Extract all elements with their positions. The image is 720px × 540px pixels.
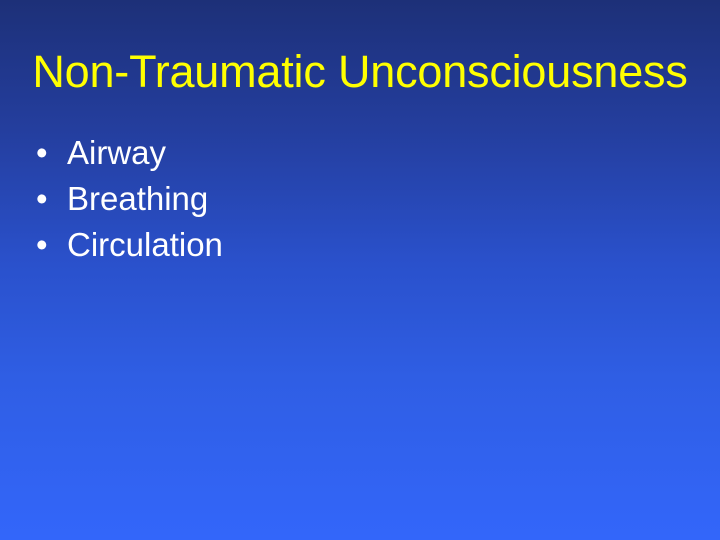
- list-item-label: Circulation: [67, 222, 223, 268]
- bullet-dot-icon: •: [36, 130, 67, 176]
- list-item-label: Airway: [67, 130, 166, 176]
- bullet-list: • Airway • Breathing • Circulation: [36, 130, 676, 268]
- list-item-label: Breathing: [67, 176, 208, 222]
- bullet-dot-icon: •: [36, 176, 67, 222]
- list-item: • Breathing: [36, 176, 676, 222]
- list-item: • Airway: [36, 130, 676, 176]
- bullet-dot-icon: •: [36, 222, 67, 268]
- presentation-slide: Non-Traumatic Unconsciousness • Airway •…: [0, 0, 720, 540]
- slide-title: Non-Traumatic Unconsciousness: [0, 46, 720, 98]
- list-item: • Circulation: [36, 222, 676, 268]
